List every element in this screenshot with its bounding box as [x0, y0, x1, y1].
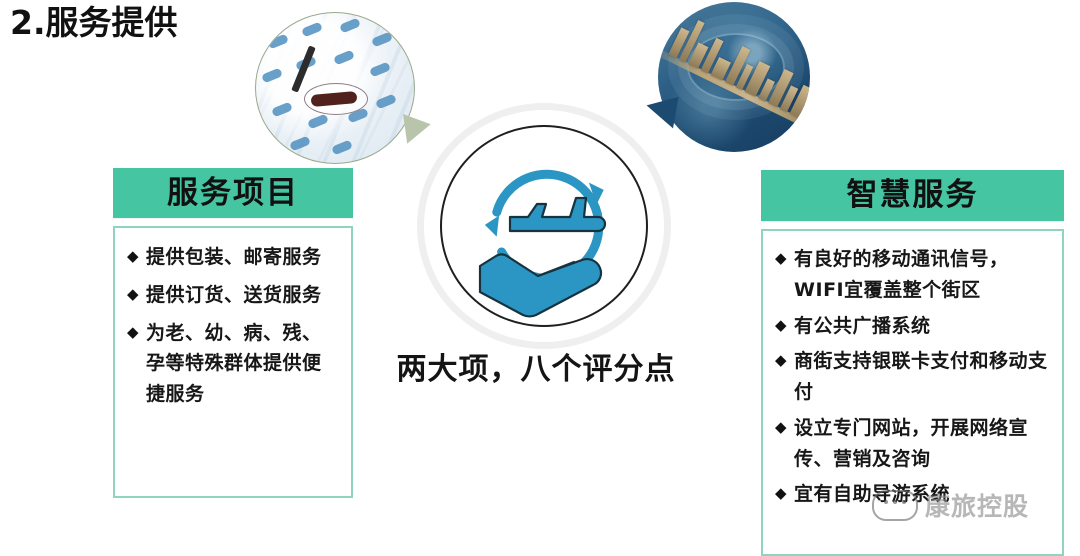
- diamond-bullet-icon: ◆: [127, 318, 139, 347]
- list-item: ◆提供订货、送货服务: [127, 280, 341, 311]
- diamond-bullet-icon: ◆: [127, 280, 139, 309]
- list-item-label: 有良好的移动通讯信号，WIFI宜覆盖整个街区: [794, 244, 1054, 306]
- diamond-bullet-icon: ◆: [127, 242, 139, 271]
- slide-canvas: 2.服务提供: [0, 0, 1080, 555]
- list-item-label: 有公共广播系统: [794, 311, 1054, 342]
- panel-service-items-body: ◆提供包装、邮寄服务◆提供订货、送货服务◆为老、幼、病、残、孕等特殊群体提供便捷…: [113, 226, 353, 498]
- medallion-artwork: [424, 110, 664, 342]
- list-item: ◆有公共广播系统: [775, 311, 1054, 342]
- list-item-label: 为老、幼、病、残、孕等特殊群体提供便捷服务: [146, 318, 341, 410]
- panel-smart-service-body: ◆有良好的移动通讯信号，WIFI宜覆盖整个街区◆有公共广播系统◆商街支持银联卡支…: [761, 229, 1064, 556]
- service-items-list: ◆提供包装、邮寄服务◆提供订货、送货服务◆为老、幼、病、残、孕等特殊群体提供便捷…: [127, 242, 341, 410]
- list-item-label: 设立专门网站，开展网络宣传、营销及咨询: [794, 413, 1054, 475]
- airplane-in-hand-icon: [424, 110, 664, 342]
- smart-service-list: ◆有良好的移动通讯信号，WIFI宜覆盖整个街区◆有公共广播系统◆商街支持银联卡支…: [775, 244, 1054, 510]
- list-item-label: 商街支持银联卡支付和移动支付: [794, 346, 1054, 408]
- panel-service-items: 服务项目 ◆提供包装、邮寄服务◆提供订货、送货服务◆为老、幼、病、残、孕等特殊群…: [113, 168, 353, 498]
- bubble-photo-right: [658, 2, 810, 152]
- diamond-bullet-icon: ◆: [775, 479, 787, 508]
- bubble-left-hub: [304, 83, 368, 115]
- panel-smart-service-header: 智慧服务: [761, 170, 1064, 221]
- bubble-right-skyline: [658, 2, 810, 152]
- diamond-bullet-icon: ◆: [775, 346, 787, 375]
- panel-smart-service: 智慧服务 ◆有良好的移动通讯信号，WIFI宜覆盖整个街区◆有公共广播系统◆商街支…: [761, 170, 1064, 556]
- list-item: ◆商街支持银联卡支付和移动支付: [775, 346, 1054, 408]
- diamond-bullet-icon: ◆: [775, 311, 787, 340]
- people-network-photo-bubble: [255, 12, 415, 164]
- list-item: ◆提供包装、邮寄服务: [127, 242, 341, 273]
- city-skyline-photo-bubble: [658, 2, 810, 152]
- list-item: ◆设立专门网站，开展网络宣传、营销及咨询: [775, 413, 1054, 475]
- list-item-label: 宜有自助导游系统: [794, 479, 1054, 510]
- list-item: ◆有良好的移动通讯信号，WIFI宜覆盖整个街区: [775, 244, 1054, 306]
- list-item-label: 提供包装、邮寄服务: [146, 242, 341, 273]
- page-title: 2.服务提供: [10, 2, 178, 43]
- diamond-bullet-icon: ◆: [775, 413, 787, 442]
- bubble-photo-left: [255, 12, 415, 164]
- center-caption-text: 两大项，八个评分点: [397, 344, 676, 388]
- diamond-bullet-icon: ◆: [775, 244, 787, 273]
- list-item-label: 提供订货、送货服务: [146, 280, 341, 311]
- panel-service-items-header: 服务项目: [113, 168, 353, 218]
- list-item: ◆宜有自助导游系统: [775, 479, 1054, 510]
- list-item: ◆为老、幼、病、残、孕等特殊群体提供便捷服务: [127, 318, 341, 410]
